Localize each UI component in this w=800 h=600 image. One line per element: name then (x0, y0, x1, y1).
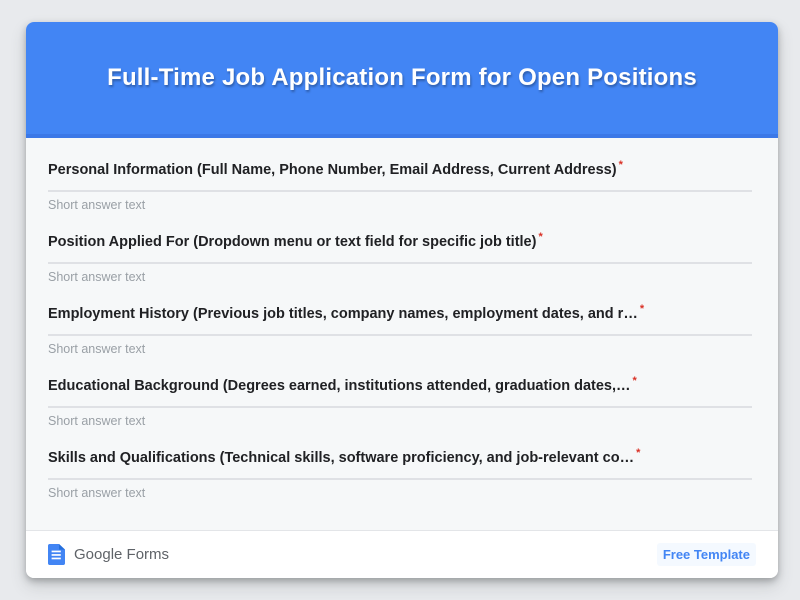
answer-placeholder-text: Short answer text (48, 269, 752, 285)
question-title-text: Educational Background (Degrees earned, … (48, 376, 631, 396)
question-row[interactable]: Educational Background (Degrees earned, … (48, 372, 752, 444)
question-label: Position Applied For (Dropdown menu or t… (48, 228, 752, 252)
answer-field[interactable]: Short answer text (48, 190, 752, 213)
form-footer: Google Forms Free Template (26, 530, 778, 578)
question-title-text: Position Applied For (Dropdown menu or t… (48, 232, 536, 252)
question-label: Educational Background (Degrees earned, … (48, 372, 752, 396)
required-asterisk: * (633, 376, 637, 387)
required-asterisk: * (636, 448, 640, 459)
question-row[interactable]: Employment History (Previous job titles,… (48, 300, 752, 372)
question-title-text: Skills and Qualifications (Technical ski… (48, 448, 634, 468)
answer-field[interactable]: Short answer text (48, 262, 752, 285)
question-row[interactable]: Personal Information (Full Name, Phone N… (48, 156, 752, 228)
google-forms-brand[interactable]: Google Forms (48, 544, 169, 565)
form-header-banner: Full-Time Job Application Form for Open … (26, 22, 778, 138)
question-label: Skills and Qualifications (Technical ski… (48, 444, 752, 468)
google-forms-template-card: Full-Time Job Application Form for Open … (26, 22, 778, 578)
question-row[interactable]: Skills and Qualifications (Technical ski… (48, 444, 752, 516)
required-asterisk: * (640, 304, 644, 315)
question-label: Employment History (Previous job titles,… (48, 300, 752, 324)
answer-field[interactable]: Short answer text (48, 478, 752, 501)
form-questions-list: Personal Information (Full Name, Phone N… (26, 138, 778, 530)
question-label: Personal Information (Full Name, Phone N… (48, 156, 752, 180)
answer-placeholder-text: Short answer text (48, 413, 752, 429)
question-title-text: Employment History (Previous job titles,… (48, 304, 638, 324)
required-asterisk: * (538, 232, 542, 243)
google-forms-doc-icon (48, 544, 65, 565)
required-asterisk: * (619, 160, 623, 171)
answer-placeholder-text: Short answer text (48, 485, 752, 501)
answer-placeholder-text: Short answer text (48, 197, 752, 213)
answer-placeholder-text: Short answer text (48, 341, 752, 357)
question-title-text: Personal Information (Full Name, Phone N… (48, 160, 617, 180)
answer-field[interactable]: Short answer text (48, 406, 752, 429)
answer-field[interactable]: Short answer text (48, 334, 752, 357)
question-row[interactable]: Position Applied For (Dropdown menu or t… (48, 228, 752, 300)
free-template-link[interactable]: Free Template (657, 543, 756, 566)
google-forms-label: Google Forms (74, 546, 169, 564)
form-title: Full-Time Job Application Form for Open … (83, 64, 721, 92)
